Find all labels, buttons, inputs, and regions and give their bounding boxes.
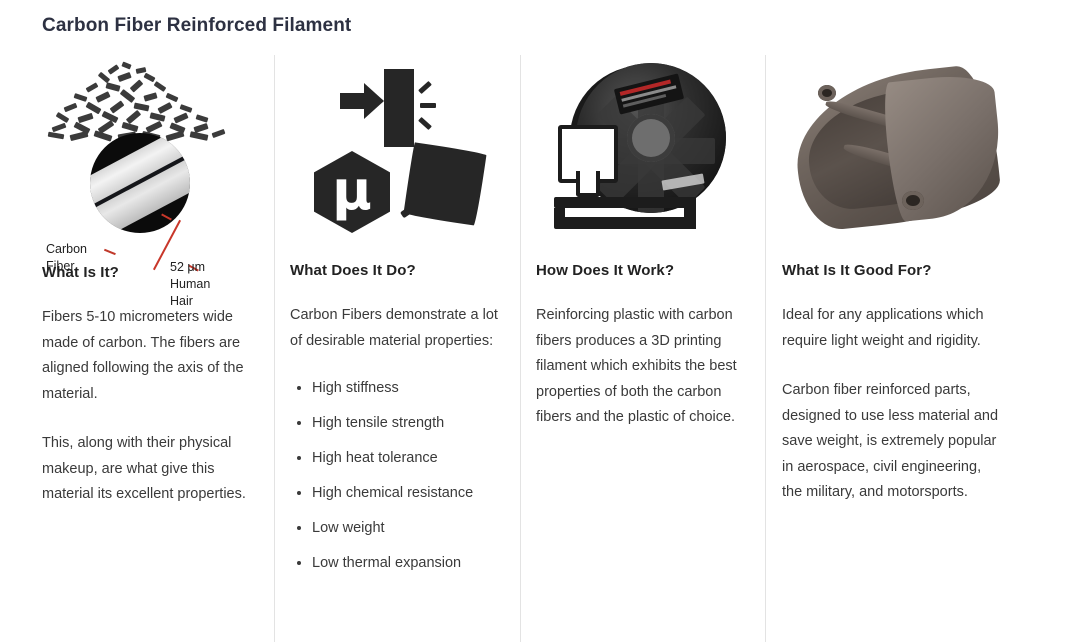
page-title: Carbon Fiber Reinforced Filament <box>42 15 351 37</box>
feather-icon <box>398 143 488 237</box>
airfoil-mount-hole <box>902 191 924 210</box>
column-paragraph: Reinforcing plastic with carbon fibers p… <box>536 303 751 431</box>
impact-wall-icon <box>384 69 414 147</box>
airfoil-trailing-edge <box>881 72 1007 223</box>
list-item: High tensile strength <box>312 413 506 433</box>
column-paragraph: This, along with their physical makeup, … <box>42 431 260 508</box>
list-item: High stiffness <box>312 378 506 398</box>
column-how-does-it-work: How Does It Work? Reinforcing plastic wi… <box>520 55 765 642</box>
column-heading-how-does-it-work: How Does It Work? <box>536 262 751 279</box>
property-icon-group: μ <box>302 61 502 241</box>
figure-filament-spool-with-extruder-icon <box>536 55 751 250</box>
column-paragraph: Ideal for any applications which require… <box>782 303 999 354</box>
spool-hub <box>627 114 675 162</box>
impact-spark-icon <box>418 117 432 130</box>
column-what-is-it-good-for: What Is It Good For? Ideal for any appli… <box>765 55 1013 642</box>
filament-spool <box>554 57 754 242</box>
impact-spark-icon <box>420 103 436 108</box>
micrograph-circle <box>90 133 190 233</box>
hexagon-micro-icon: μ <box>314 151 390 233</box>
column-paragraph: Carbon Fibers demonstrate a lot of desir… <box>290 303 506 354</box>
extruder-nozzle-icon <box>576 171 600 197</box>
impact-arrow-head-icon <box>364 83 384 119</box>
column-what-is-it: Carbon Fiber 52 μm Human Hair What Is It… <box>30 55 274 642</box>
list-item: High chemical resistance <box>312 483 506 503</box>
carbon-fiber-micrograph: Carbon Fiber 52 μm Human Hair <box>90 133 190 233</box>
carbon-fiber-label: Carbon Fiber <box>46 241 87 275</box>
figure-printed-airfoil-part <box>782 55 999 250</box>
column-heading-what-does-it-do: What Does It Do? <box>290 262 506 279</box>
carbon-fiber-pointer <box>104 249 116 255</box>
feather-vane <box>403 142 487 226</box>
column-what-does-it-do: μ What Does It Do? Carbon Fibers demonst… <box>274 55 520 642</box>
impact-spark-icon <box>418 81 432 94</box>
list-item: Low thermal expansion <box>312 553 506 573</box>
print-bed-icon <box>554 217 696 229</box>
list-item: High heat tolerance <box>312 448 506 468</box>
list-item: Low weight <box>312 518 506 538</box>
column-heading-what-is-it-good-for: What Is It Good For? <box>782 262 999 279</box>
airfoil-part <box>790 63 1004 238</box>
carbon-fiber-chips-icon <box>48 63 228 143</box>
figure-material-property-icons: μ <box>290 55 506 250</box>
human-hair-label: 52 μm Human Hair <box>170 259 210 310</box>
property-bullet-list: High stiffness High tensile strength Hig… <box>290 378 506 573</box>
figure-carbon-fiber-chips-and-micrograph: Carbon Fiber 52 μm Human Hair <box>42 55 260 250</box>
column-paragraph: Carbon fiber reinforced parts, designed … <box>782 378 999 506</box>
column-paragraph: Fibers 5-10 micrometers wide made of car… <box>42 305 260 407</box>
airfoil-mount-hole <box>818 85 836 101</box>
info-columns: Carbon Fiber 52 μm Human Hair What Is It… <box>30 55 1065 642</box>
